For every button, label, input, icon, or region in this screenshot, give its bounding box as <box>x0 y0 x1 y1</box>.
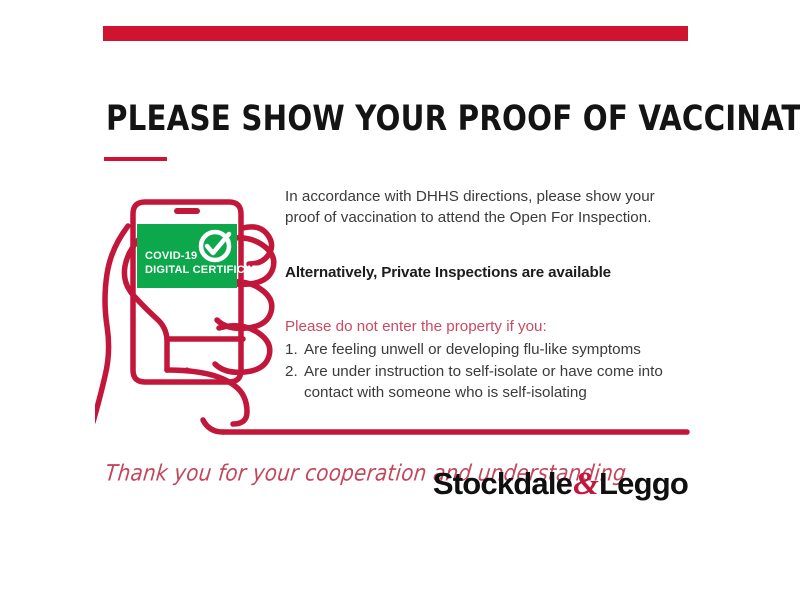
poster-canvas: PLEASE SHOW YOUR PROOF OF VACCINATION <box>0 0 800 600</box>
logo-part-stockdale: Stockdale <box>433 466 572 501</box>
forearm-outer-edge <box>95 226 128 422</box>
top-banner-bar <box>103 26 688 41</box>
copy-block: In accordance with DHHS directions, plea… <box>285 186 691 404</box>
intro-paragraph: In accordance with DHHS directions, plea… <box>285 186 691 228</box>
warning-heading: Please do not enter the property if you: <box>285 316 691 337</box>
phone-screen-group: COVID-19 DIGITAL CERTIFICATE <box>137 224 267 288</box>
logo-ampersand: & <box>572 466 599 502</box>
list-item-text: Are under instruction to self-isolate or… <box>304 363 663 402</box>
list-item: 2. Are under instruction to self-isolate… <box>285 361 691 404</box>
list-item-number: 1. <box>285 339 298 361</box>
certificate-line-1: COVID-19 <box>145 250 197 262</box>
list-item: 1. Are feeling unwell or developing flu-… <box>285 339 691 361</box>
wrist-to-baseline-joint <box>203 420 223 432</box>
warning-list: 1. Are feeling unwell or developing flu-… <box>285 339 691 404</box>
headline-underline-rule <box>104 157 167 161</box>
finger-2-outline <box>217 282 272 329</box>
alternative-paragraph: Alternatively, Private Inspections are a… <box>285 262 691 283</box>
logo-part-leggo: Leggo <box>599 466 688 501</box>
list-item-number: 2. <box>285 361 298 383</box>
stockdale-leggo-logo: Stockdale&Leggo <box>433 466 688 503</box>
certificate-line-2: DIGITAL CERTIFICATE <box>145 264 267 276</box>
list-item-text: Are feeling unwell or developing flu-lik… <box>304 341 641 358</box>
page-title: PLEASE SHOW YOUR PROOF OF VACCINATION <box>106 100 683 138</box>
